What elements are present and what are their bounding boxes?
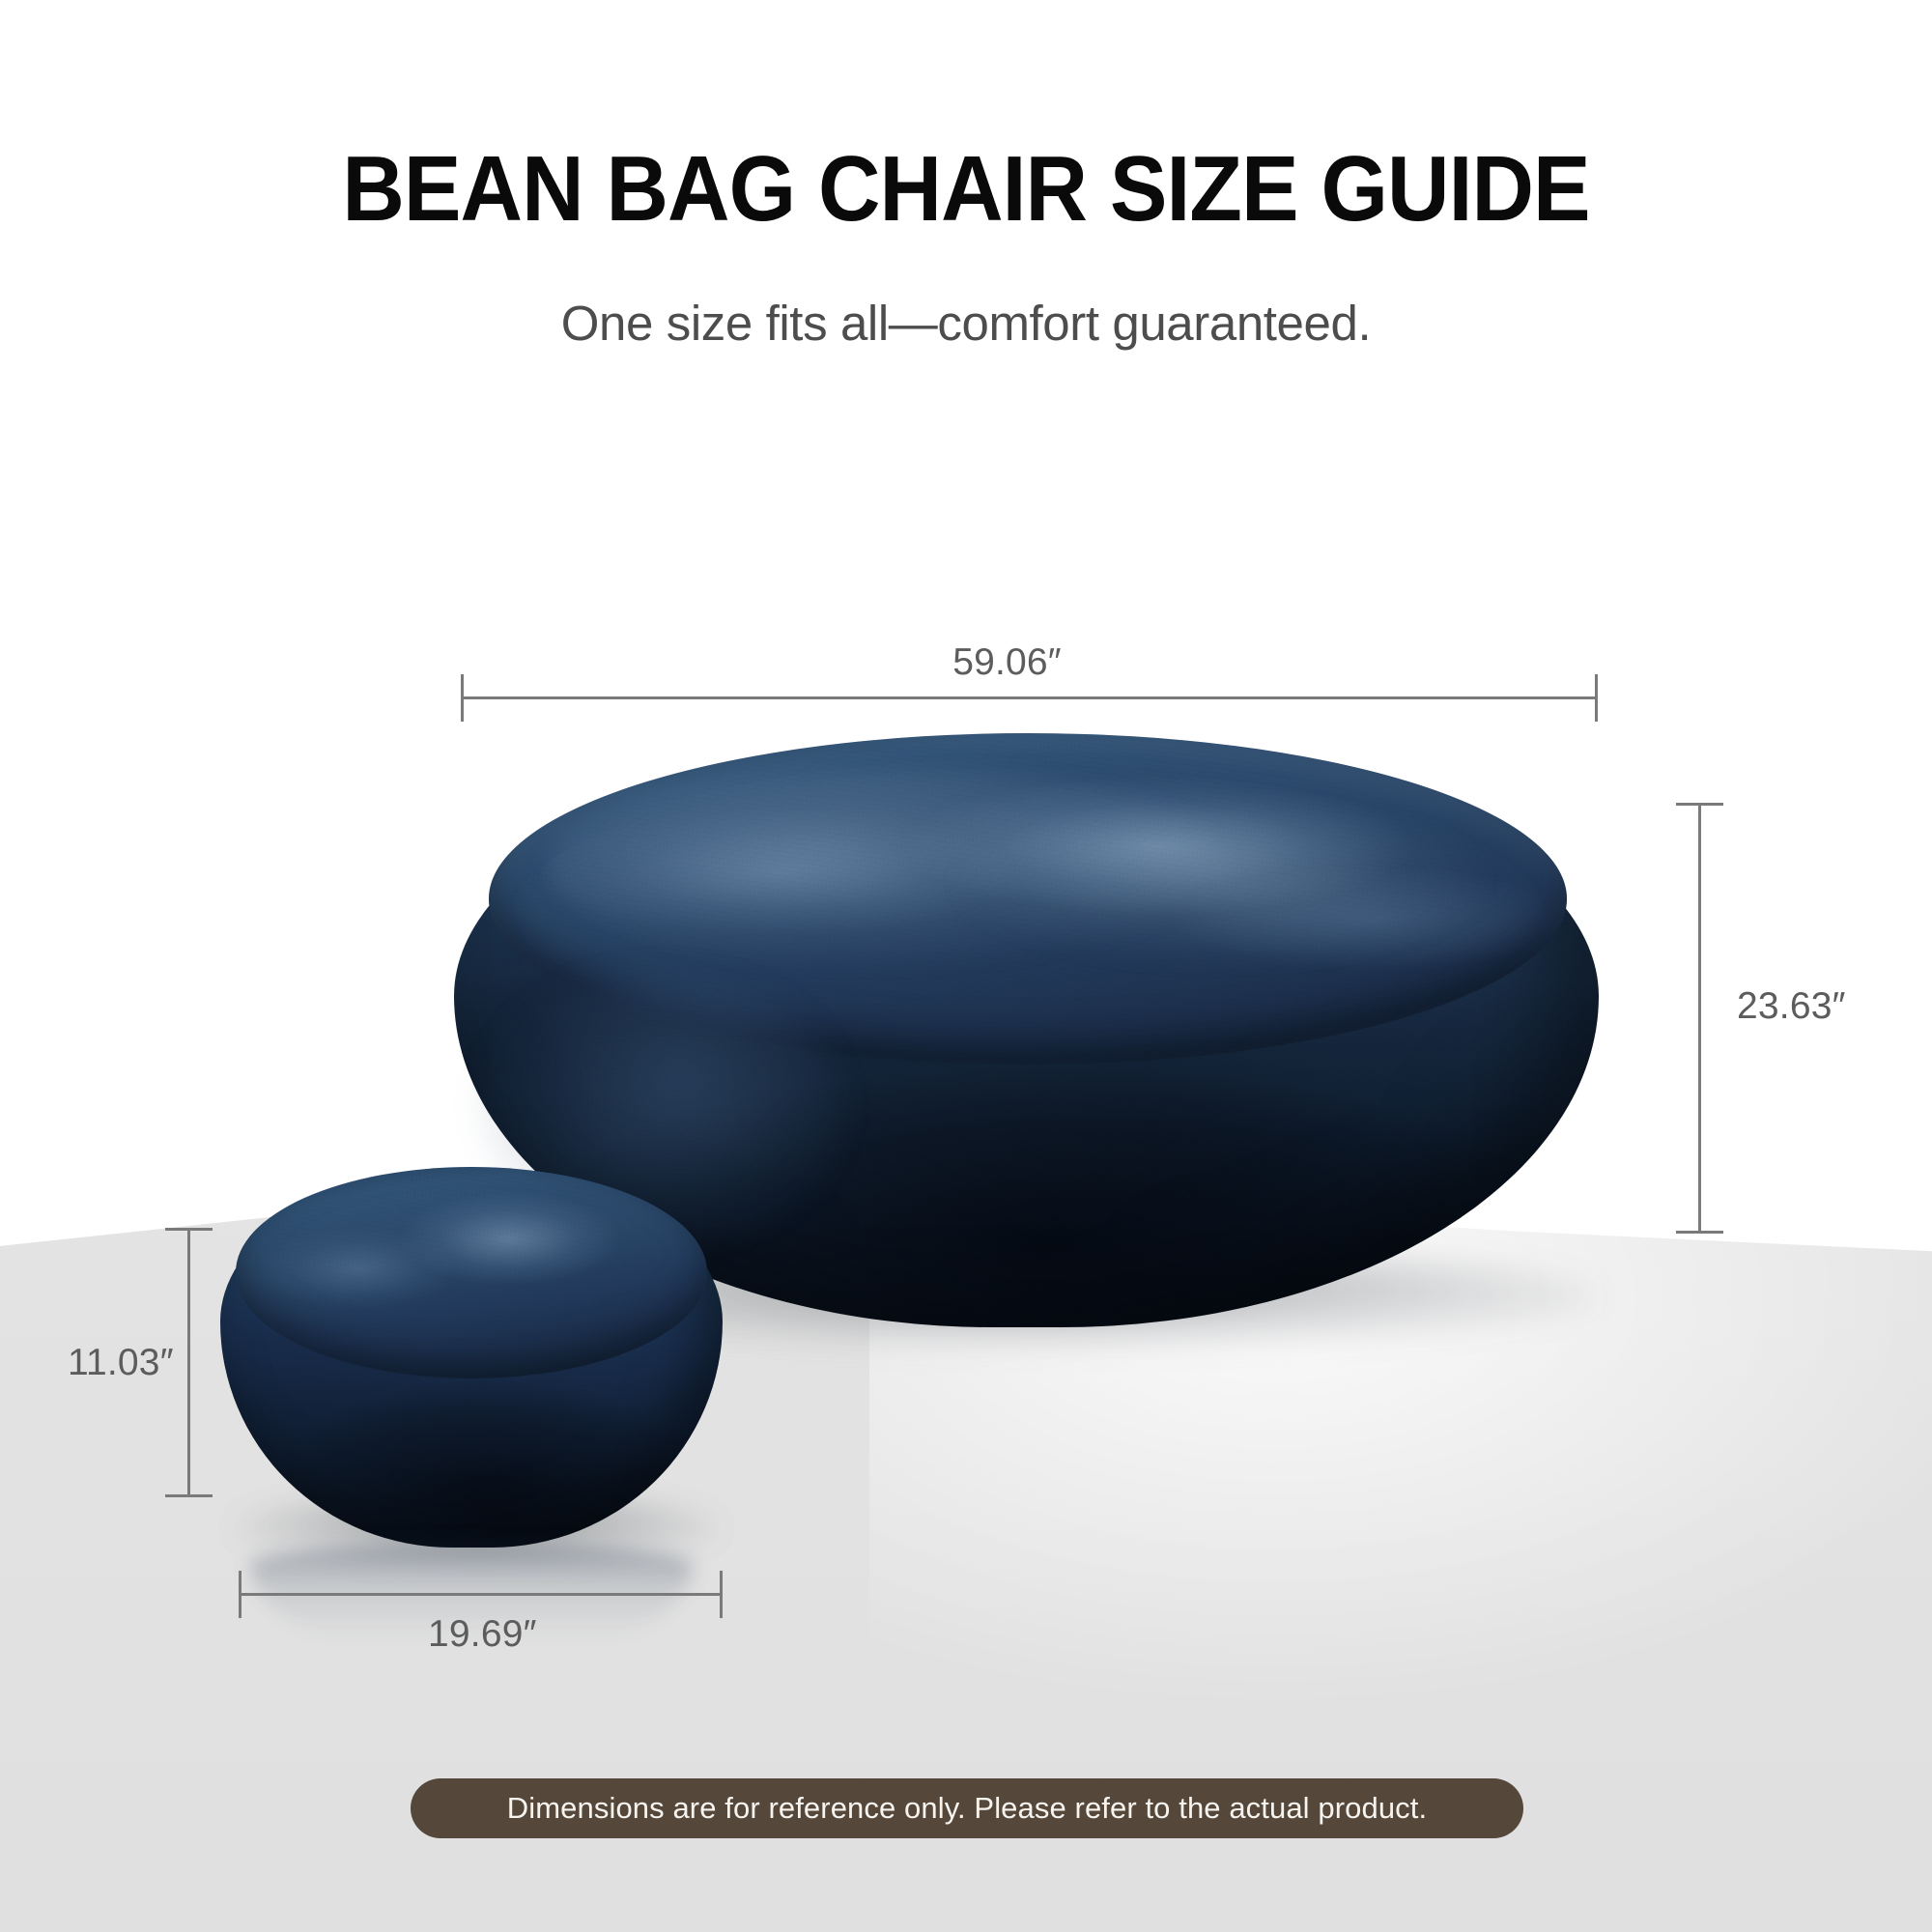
dimension-tick-small-height-top <box>165 1228 213 1231</box>
dimension-label-small-height: 11.03″ <box>68 1342 174 1384</box>
dimension-label-small-width: 19.69″ <box>428 1613 537 1656</box>
page-title: BEAN BAG CHAIR SIZE GUIDE <box>68 143 1864 236</box>
dimension-line-large-width <box>462 696 1598 699</box>
dimension-label-large-height: 23.63″ <box>1737 985 1846 1028</box>
dimension-line-large-height <box>1698 804 1701 1233</box>
dimension-tick-large-height-bottom <box>1676 1231 1723 1234</box>
dimension-tick-small-width-right <box>720 1571 723 1618</box>
disclaimer-banner: Dimensions are for reference only. Pleas… <box>411 1778 1523 1838</box>
dimension-tick-large-height-top <box>1676 803 1723 806</box>
dimension-label-large-width-wrap: 59.06″ <box>0 641 1932 684</box>
dimension-label-large-width: 59.06″ <box>952 641 1062 684</box>
disclaimer-text: Dimensions are for reference only. Pleas… <box>507 1778 1427 1838</box>
dimension-line-small-height <box>187 1229 190 1497</box>
size-guide-infographic: BEAN BAG CHAIR SIZE GUIDE One size fits … <box>0 0 1932 1932</box>
small-bean-bag-ottoman <box>220 1171 723 1548</box>
dimension-tick-small-height-bottom <box>165 1494 213 1497</box>
small-bean-bag-top-surface <box>236 1167 708 1378</box>
dimension-tick-small-width-left <box>239 1571 241 1618</box>
large-bean-bag-highlight-right <box>957 807 1484 960</box>
page-subtitle: One size fits all—comfort guaranteed. <box>0 295 1932 353</box>
dimension-line-small-width <box>240 1593 723 1596</box>
